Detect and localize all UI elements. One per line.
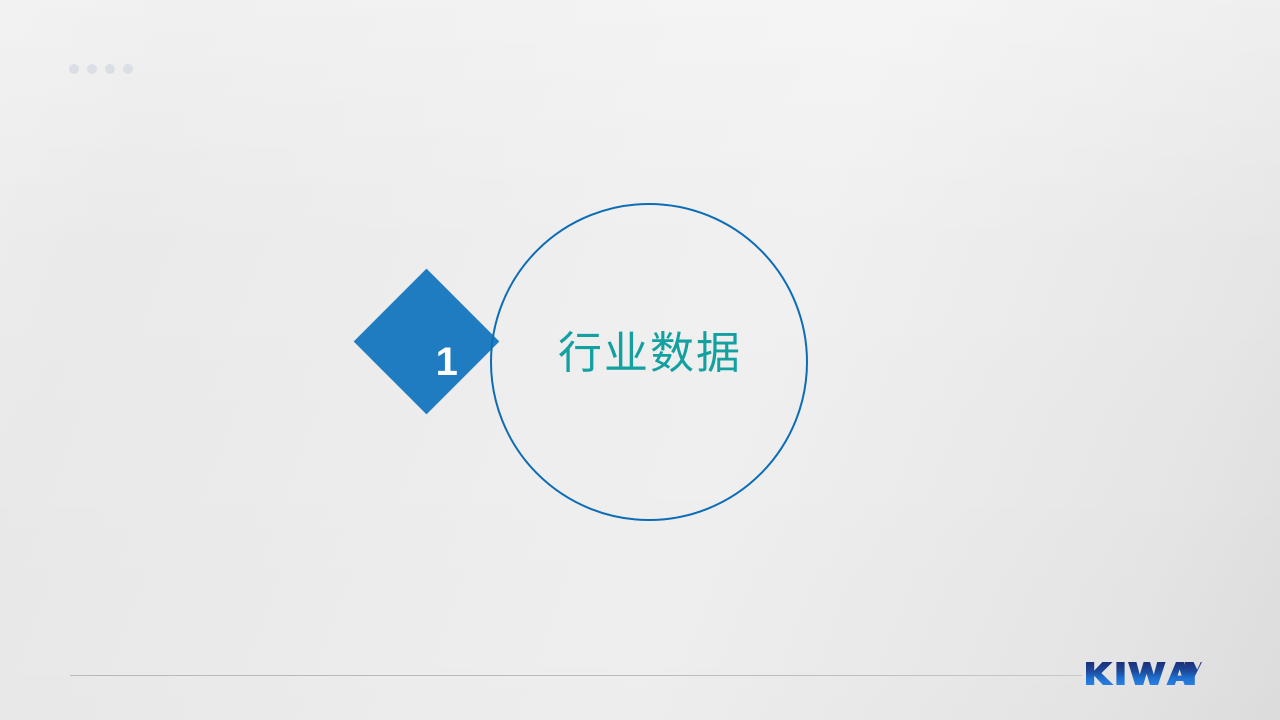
dot-icon-1 (69, 64, 79, 74)
dot-icon-4 (123, 64, 133, 74)
section-title: 行业数据 (510, 330, 790, 378)
dot-icon-2 (87, 64, 97, 74)
decorative-dots (69, 64, 133, 74)
section-number-diamond (354, 269, 500, 415)
footer-divider (70, 675, 1082, 676)
presentation-slide: 1 行业数据 (0, 0, 1280, 720)
kiway-logo (1084, 658, 1202, 688)
section-graphic: 1 行业数据 (0, 0, 1280, 720)
dot-icon-3 (105, 64, 115, 74)
